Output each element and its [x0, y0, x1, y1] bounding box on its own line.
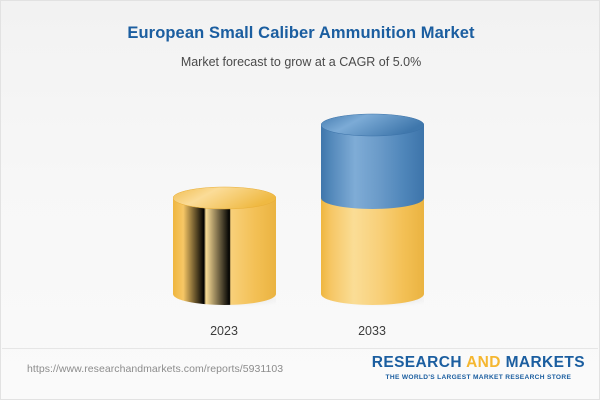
cylinder-body-blue-2033 — [321, 125, 424, 209]
cylinder-body-2023 — [173, 198, 276, 305]
report-url-link[interactable]: https://www.researchandmarkets.com/repor… — [27, 362, 283, 376]
footer: https://www.researchandmarkets.com/repor… — [1, 349, 600, 399]
bar-cylinder-2033 — [321, 113, 424, 308]
bar-cylinder-2023 — [173, 186, 276, 308]
cylinder-2023-svg — [173, 186, 276, 308]
brand-logo[interactable]: RESEARCH AND MARKETS THE WORLD'S LARGEST… — [372, 354, 585, 383]
brand-tagline: THE WORLD'S LARGEST MARKET RESEARCH STOR… — [372, 372, 585, 383]
brand-word-markets: MARKETS — [506, 354, 585, 371]
cylinder-top-2033 — [321, 114, 424, 136]
cylinder-2033-svg — [321, 113, 424, 308]
brand-word-research: RESEARCH — [372, 354, 462, 371]
chart-plot-area: USD 2.89 Billion — [1, 1, 600, 349]
cylinder-body-yellow-2033 — [321, 198, 424, 305]
x-axis-label-2033: 2033 — [292, 323, 452, 339]
x-axis-label-2023: 2023 — [144, 323, 304, 339]
brand-word-and: AND — [466, 354, 501, 371]
cylinder-top-2023 — [173, 187, 276, 209]
brand-name: RESEARCH AND MARKETS — [372, 354, 585, 372]
infographic-card: European Small Caliber Ammunition Market… — [0, 0, 600, 400]
